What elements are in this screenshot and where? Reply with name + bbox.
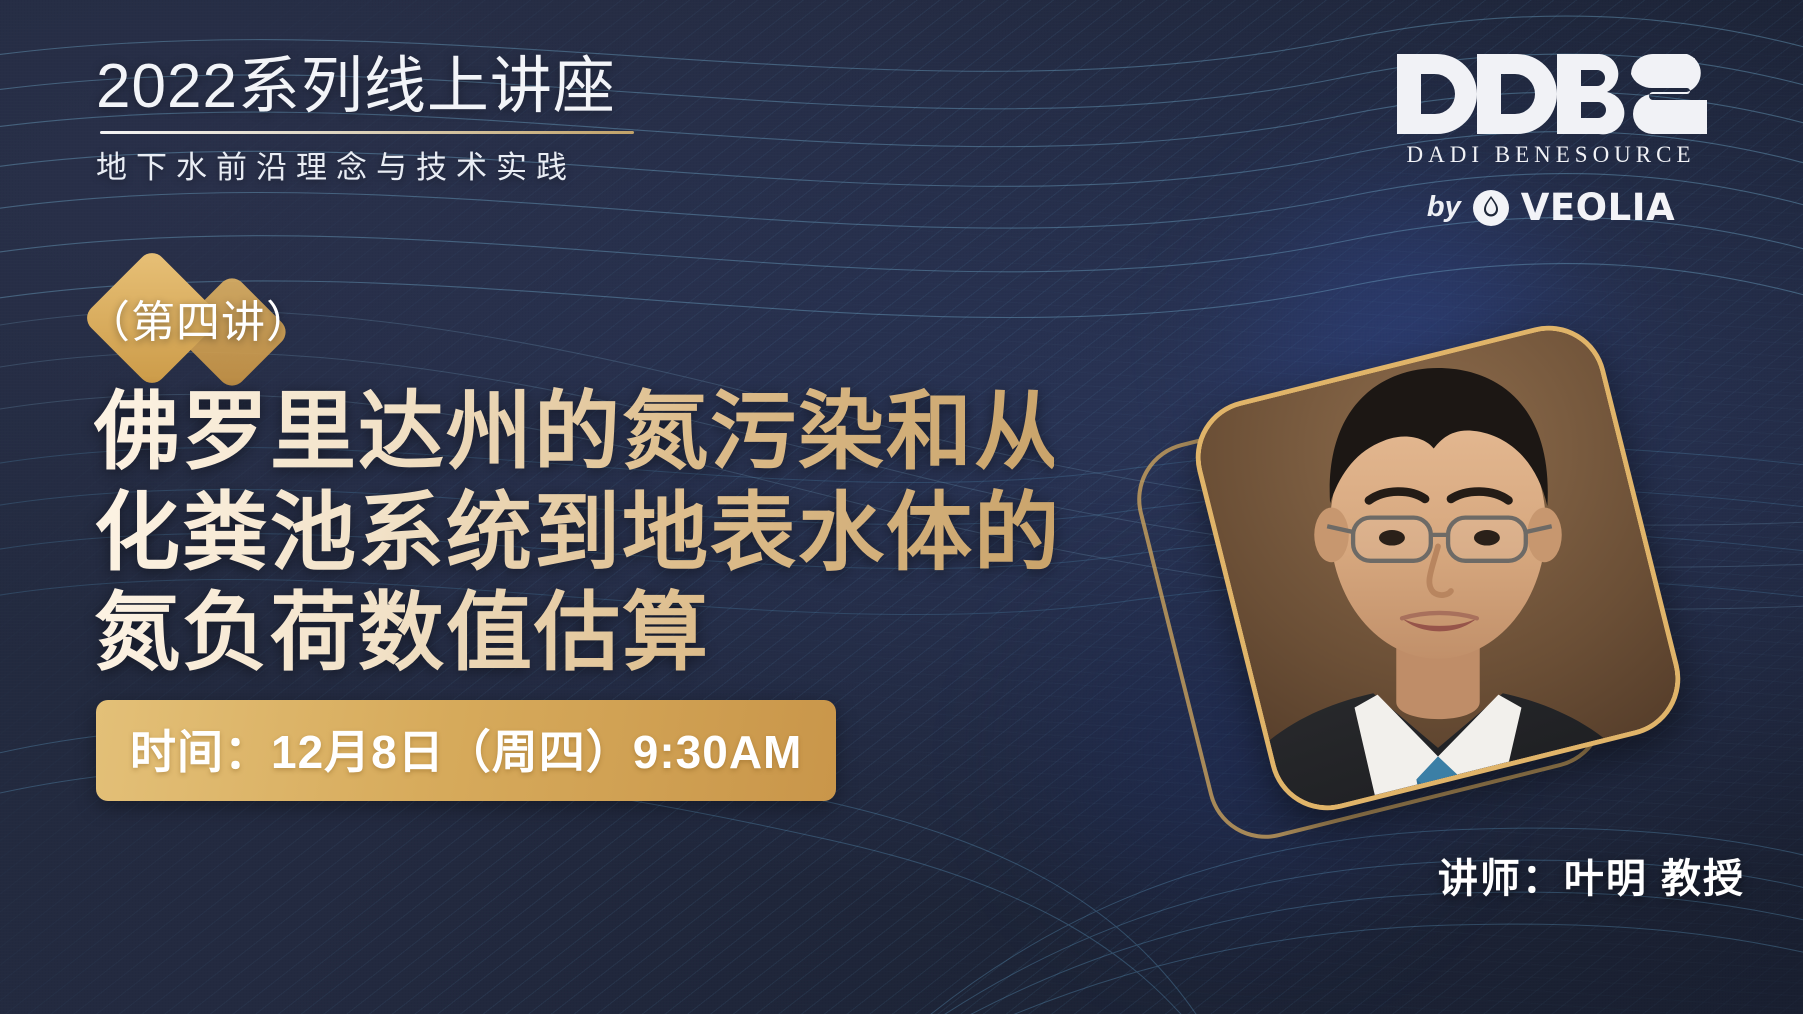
header-block: 2022系列线上讲座 地下水前沿理念与技术实践	[96, 54, 634, 187]
ddbs-logo	[1341, 52, 1761, 136]
main-title: 佛罗里达州的氮污染和从 化粪池系统到地表水体的 氮负荷数值估算	[94, 382, 1054, 684]
title-line-2: 化粪池系统到地表水体的	[94, 483, 1054, 584]
title-line-1: 佛罗里达州的氮污染和从	[94, 382, 1054, 483]
veolia-wordmark: VEOLIA	[1521, 186, 1675, 229]
ddbs-wordmark-icon	[1395, 52, 1707, 136]
partner-lockup: by VEOLIA	[1341, 186, 1761, 229]
brand-block: DADI BENESOURCE by VEOLIA	[1341, 52, 1761, 229]
series-title: 2022系列线上讲座	[96, 54, 634, 121]
speaker-portrait-block	[1140, 330, 1760, 810]
lecture-number-label: （第四讲）	[86, 286, 486, 350]
title-divider	[100, 131, 634, 134]
by-label: by	[1427, 191, 1461, 224]
poster-canvas: 2022系列线上讲座 地下水前沿理念与技术实践 DADI BENESOURCE …	[0, 0, 1803, 1014]
brand-tagline: DADI BENESOURCE	[1341, 142, 1761, 168]
series-subtitle: 地下水前沿理念与技术实践	[96, 142, 634, 187]
title-line-3: 氮负荷数值估算	[94, 583, 1054, 684]
speaker-credit: 讲师：叶明 教授	[1438, 846, 1745, 904]
schedule-time-label: 时间：12月8日（周四）9:30AM	[130, 726, 802, 778]
lecture-badge: （第四讲）	[72, 258, 492, 378]
veolia-circle-icon	[1472, 189, 1510, 227]
schedule-banner: 时间：12月8日（周四）9:30AM	[96, 700, 836, 801]
